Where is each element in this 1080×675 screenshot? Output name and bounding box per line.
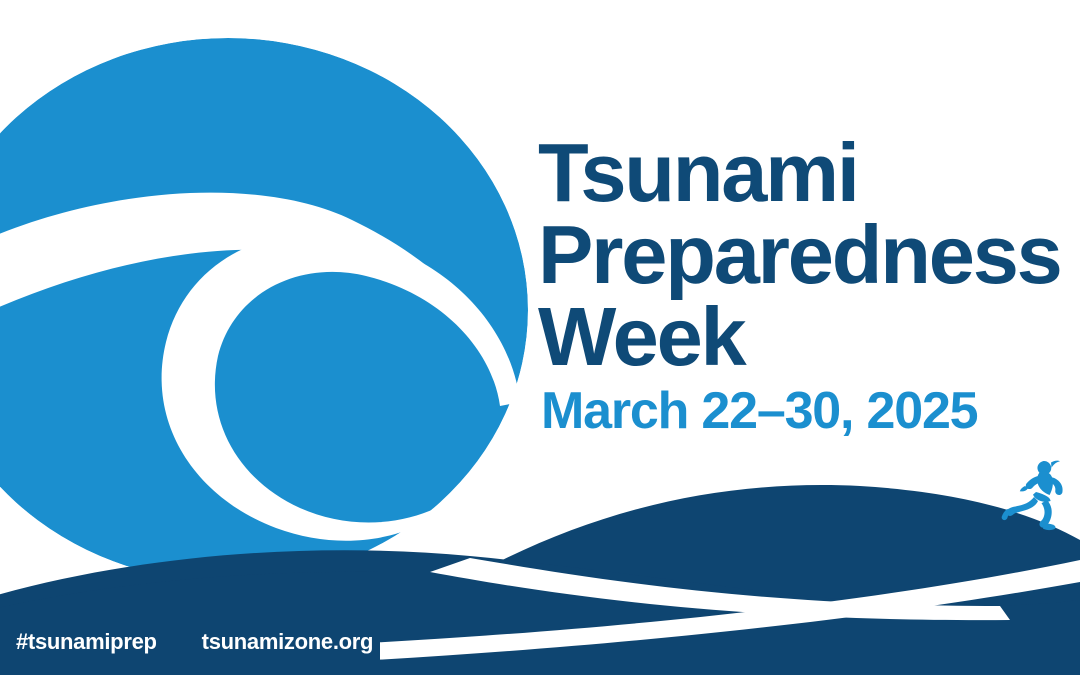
banner-artwork	[0, 0, 1080, 675]
tsunami-wave-logo	[0, 38, 528, 582]
tsunami-preparedness-banner: Tsunami Preparedness Week March 22–30, 2…	[0, 0, 1080, 675]
